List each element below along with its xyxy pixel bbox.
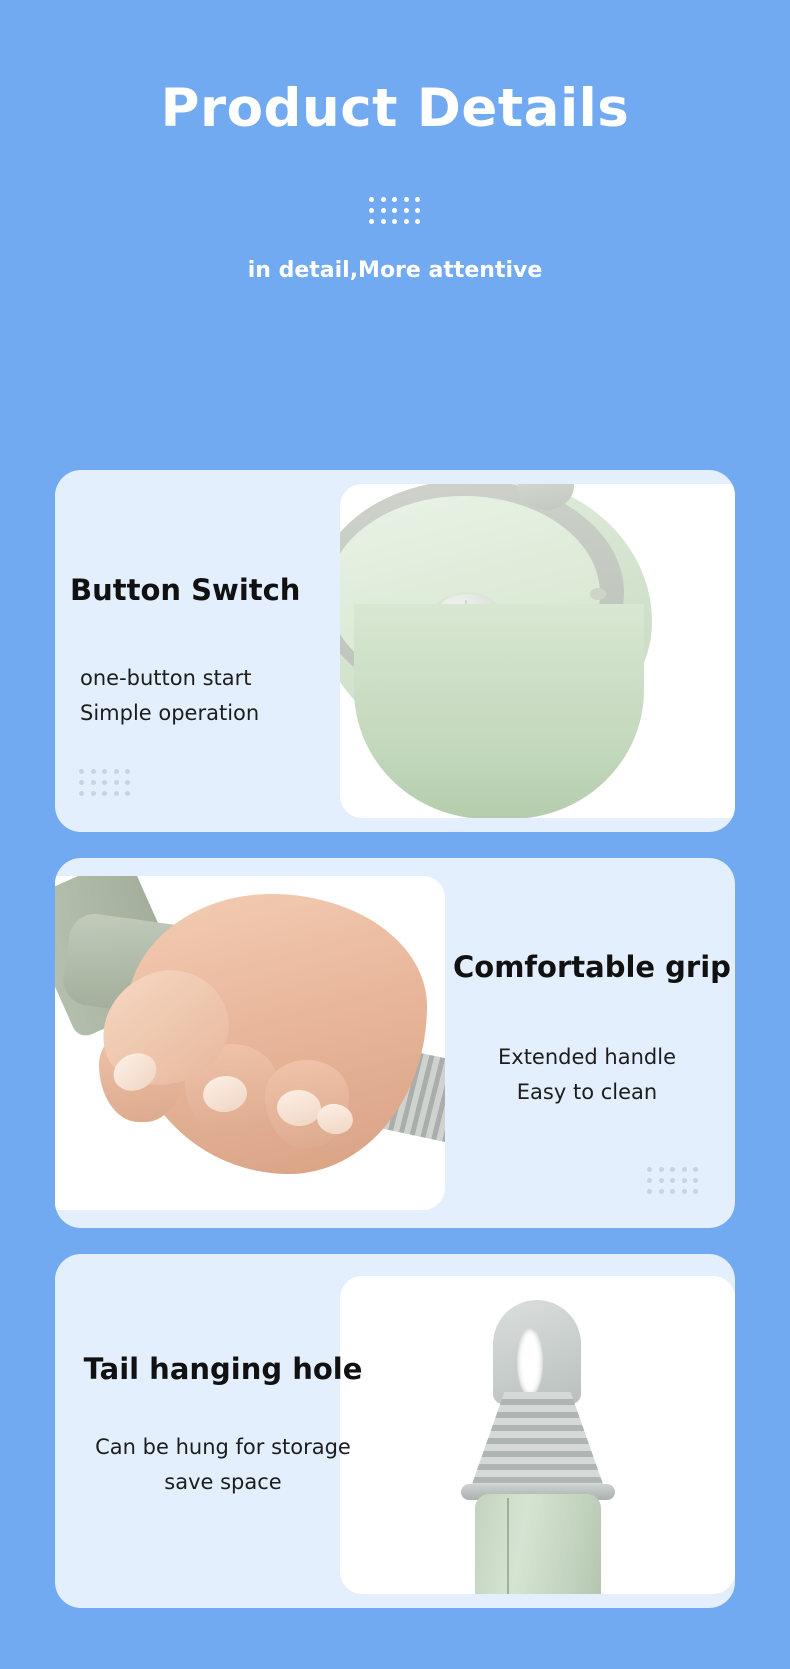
product-photo-comfortable-grip: [55, 876, 445, 1210]
feature-text-tail-hanging-hole: Tail hanging hole Can be hung for storag…: [58, 1354, 388, 1499]
feature-text-comfortable-grip: Comfortable grip Extended handle Easy to…: [453, 952, 721, 1109]
page-title: Product Details: [0, 82, 790, 135]
card-body: one-button start Simple operation: [70, 661, 300, 730]
card-body: Extended handle Easy to clean: [453, 1040, 721, 1109]
device-notch-shape: [590, 588, 606, 600]
device-skirt-shape: [354, 604, 644, 818]
dot-grid-decoration-icon: [79, 769, 131, 796]
page-header: Product Details in detail,More attentive: [0, 82, 790, 282]
card-body-line-2: save space: [58, 1465, 388, 1500]
feature-card-tail-hanging-hole: Tail hanging hole Can be hung for storag…: [55, 1254, 735, 1608]
card-body-line-2: Easy to clean: [453, 1075, 721, 1110]
ribbed-cap-shape: [469, 1392, 607, 1494]
page-subtitle: in detail,More attentive: [0, 260, 790, 282]
body-seam-line: [507, 1498, 509, 1594]
card-body-line-2: Simple operation: [80, 696, 300, 731]
card-body-line-1: Can be hung for storage: [58, 1430, 388, 1465]
card-body: Can be hung for storage save space: [58, 1430, 388, 1499]
feature-card-button-switch: Button Switch one-button start Simple op…: [55, 470, 735, 832]
product-photo-tail-hanging-hole: [340, 1276, 735, 1594]
hanging-hole-icon: [517, 1328, 543, 1396]
dot-grid-decoration-icon: [647, 1167, 699, 1194]
card-heading: Comfortable grip: [453, 952, 721, 984]
card-heading: Tail hanging hole: [58, 1354, 388, 1386]
device-body-shape: [475, 1494, 601, 1594]
card-heading: Button Switch: [70, 575, 300, 607]
feature-card-comfortable-grip: Comfortable grip Extended handle Easy to…: [55, 858, 735, 1228]
card-body-line-1: Extended handle: [453, 1040, 721, 1075]
card-body-line-1: one-button start: [80, 661, 300, 696]
product-photo-button-switch: [340, 484, 735, 818]
dot-grid-decoration-icon: [369, 197, 421, 224]
feature-text-button-switch: Button Switch one-button start Simple op…: [70, 575, 300, 730]
